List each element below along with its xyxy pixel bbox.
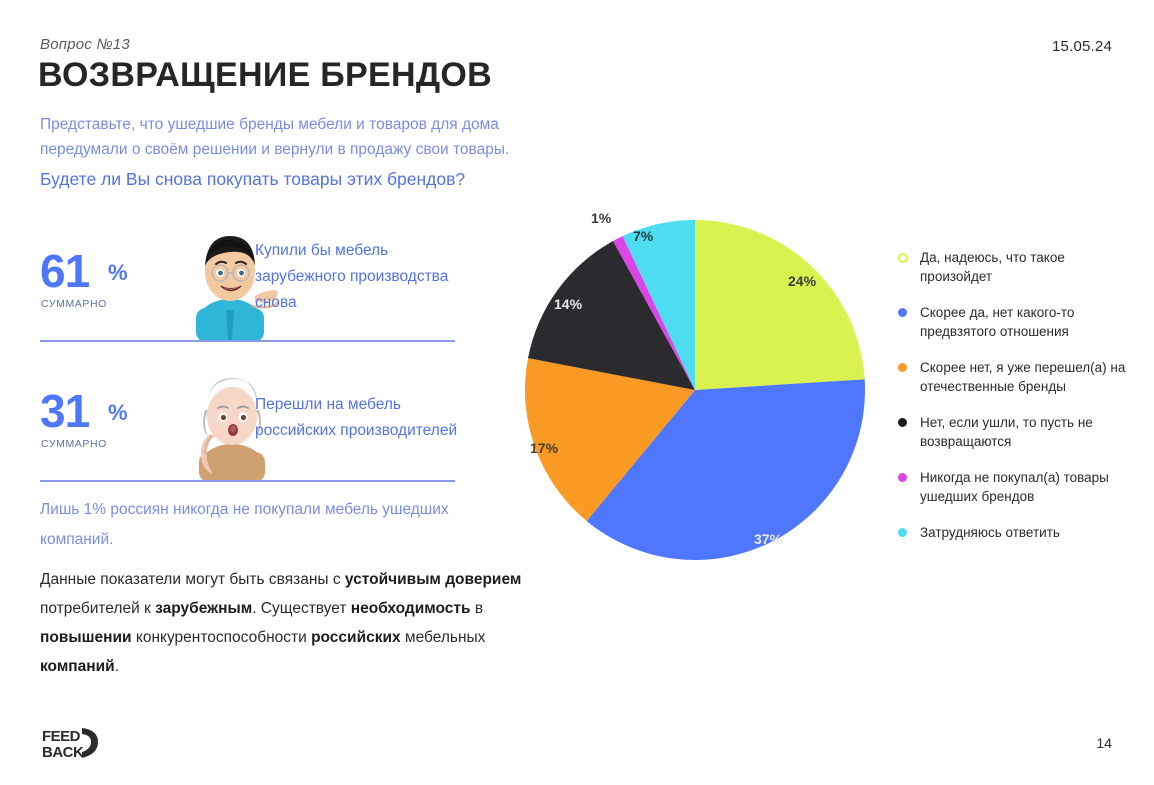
note-paragraph: Лишь 1% россиян никогда не покупали мебе… <box>40 495 460 555</box>
stat-divider-2 <box>40 480 455 482</box>
stat-value-2: 31 <box>40 384 89 438</box>
svg-text:FEED: FEED <box>42 728 81 745</box>
pie-slice-label-6: 7% <box>633 228 653 244</box>
slide: Вопрос №13 15.05.24 ВОЗВРАЩЕНИЕ БРЕНДОВ … <box>0 0 1154 785</box>
pie-slice-label-3: 17% <box>530 440 558 456</box>
feedback-logo: FEED BACK <box>42 726 112 760</box>
pie-chart-svg <box>505 200 895 580</box>
stat-description-2: Перешли на мебель российских производите… <box>255 392 470 444</box>
stat-caption-2: СУММАРНО <box>41 438 107 450</box>
legend-color-swatch-icon <box>898 473 907 482</box>
svg-text:BACK: BACK <box>42 744 84 760</box>
stat-caption-1: СУММАРНО <box>41 298 107 310</box>
legend-item[interactable]: Скорее да, нет какого-то предвзятого отн… <box>898 303 1138 341</box>
stat-percent-sign-1: % <box>108 260 128 286</box>
stat-card-2: 31 % СУММАРНО <box>40 372 455 482</box>
legend-label: Да, надеюсь, что такое произойдет <box>920 250 1065 284</box>
legend-label: Скорее нет, я уже перешел(а) на отечеств… <box>920 360 1125 394</box>
legend-item[interactable]: Затрудняюсь ответить <box>898 523 1138 542</box>
legend-label: Нет, если ушли, то пусть не возвращаются <box>920 415 1093 449</box>
chart-legend: Да, надеюсь, что такое произойдетСкорее … <box>898 248 1138 559</box>
stat-percent-sign-2: % <box>108 400 128 426</box>
pie-slice <box>695 220 865 390</box>
pie-chart: 24% 37% 17% 14% 1% 7% <box>505 200 895 580</box>
pie-slice-label-5: 1% <box>591 210 611 226</box>
stat-value-1: 61 <box>40 244 89 298</box>
legend-color-swatch-icon <box>898 418 907 427</box>
legend-item[interactable]: Скорее нет, я уже перешел(а) на отечеств… <box>898 358 1138 396</box>
legend-item[interactable]: Да, надеюсь, что такое произойдет <box>898 248 1138 286</box>
question-subheading: Будете ли Вы снова покупать товары этих … <box>40 167 600 191</box>
pie-slice-label-2: 37% <box>754 531 782 547</box>
legend-item[interactable]: Никогда не покупал(а) товары ушедших бре… <box>898 468 1138 506</box>
legend-item[interactable]: Нет, если ушли, то пусть не возвращаются <box>898 413 1138 451</box>
stat-divider-1 <box>40 340 455 342</box>
legend-color-swatch-icon <box>898 528 907 537</box>
page-number: 14 <box>1096 735 1112 751</box>
legend-color-swatch-icon <box>898 253 908 263</box>
pie-slice-label-4: 14% <box>554 296 582 312</box>
legend-label: Затрудняюсь ответить <box>920 525 1060 540</box>
question-label: Вопрос №13 <box>40 36 130 53</box>
slide-date: 15.05.24 <box>1052 38 1112 55</box>
intro-paragraph: Представьте, что ушедшие бренды мебели и… <box>40 112 560 162</box>
legend-label: Скорее да, нет какого-то предвзятого отн… <box>920 305 1074 339</box>
stat-card-1: 61 % СУММАРНО <box>40 232 455 342</box>
legend-color-swatch-icon <box>898 363 907 372</box>
legend-color-swatch-icon <box>898 308 907 317</box>
stat-description-1: Купили бы мебель зарубежного производств… <box>255 238 470 316</box>
pie-slice-label-1: 24% <box>788 273 816 289</box>
conclusion-paragraph: Данные показатели могут быть связаны с у… <box>40 565 540 681</box>
legend-label: Никогда не покупал(а) товары ушедших бре… <box>920 470 1109 504</box>
page-title: ВОЗВРАЩЕНИЕ БРЕНДОВ <box>38 56 492 95</box>
